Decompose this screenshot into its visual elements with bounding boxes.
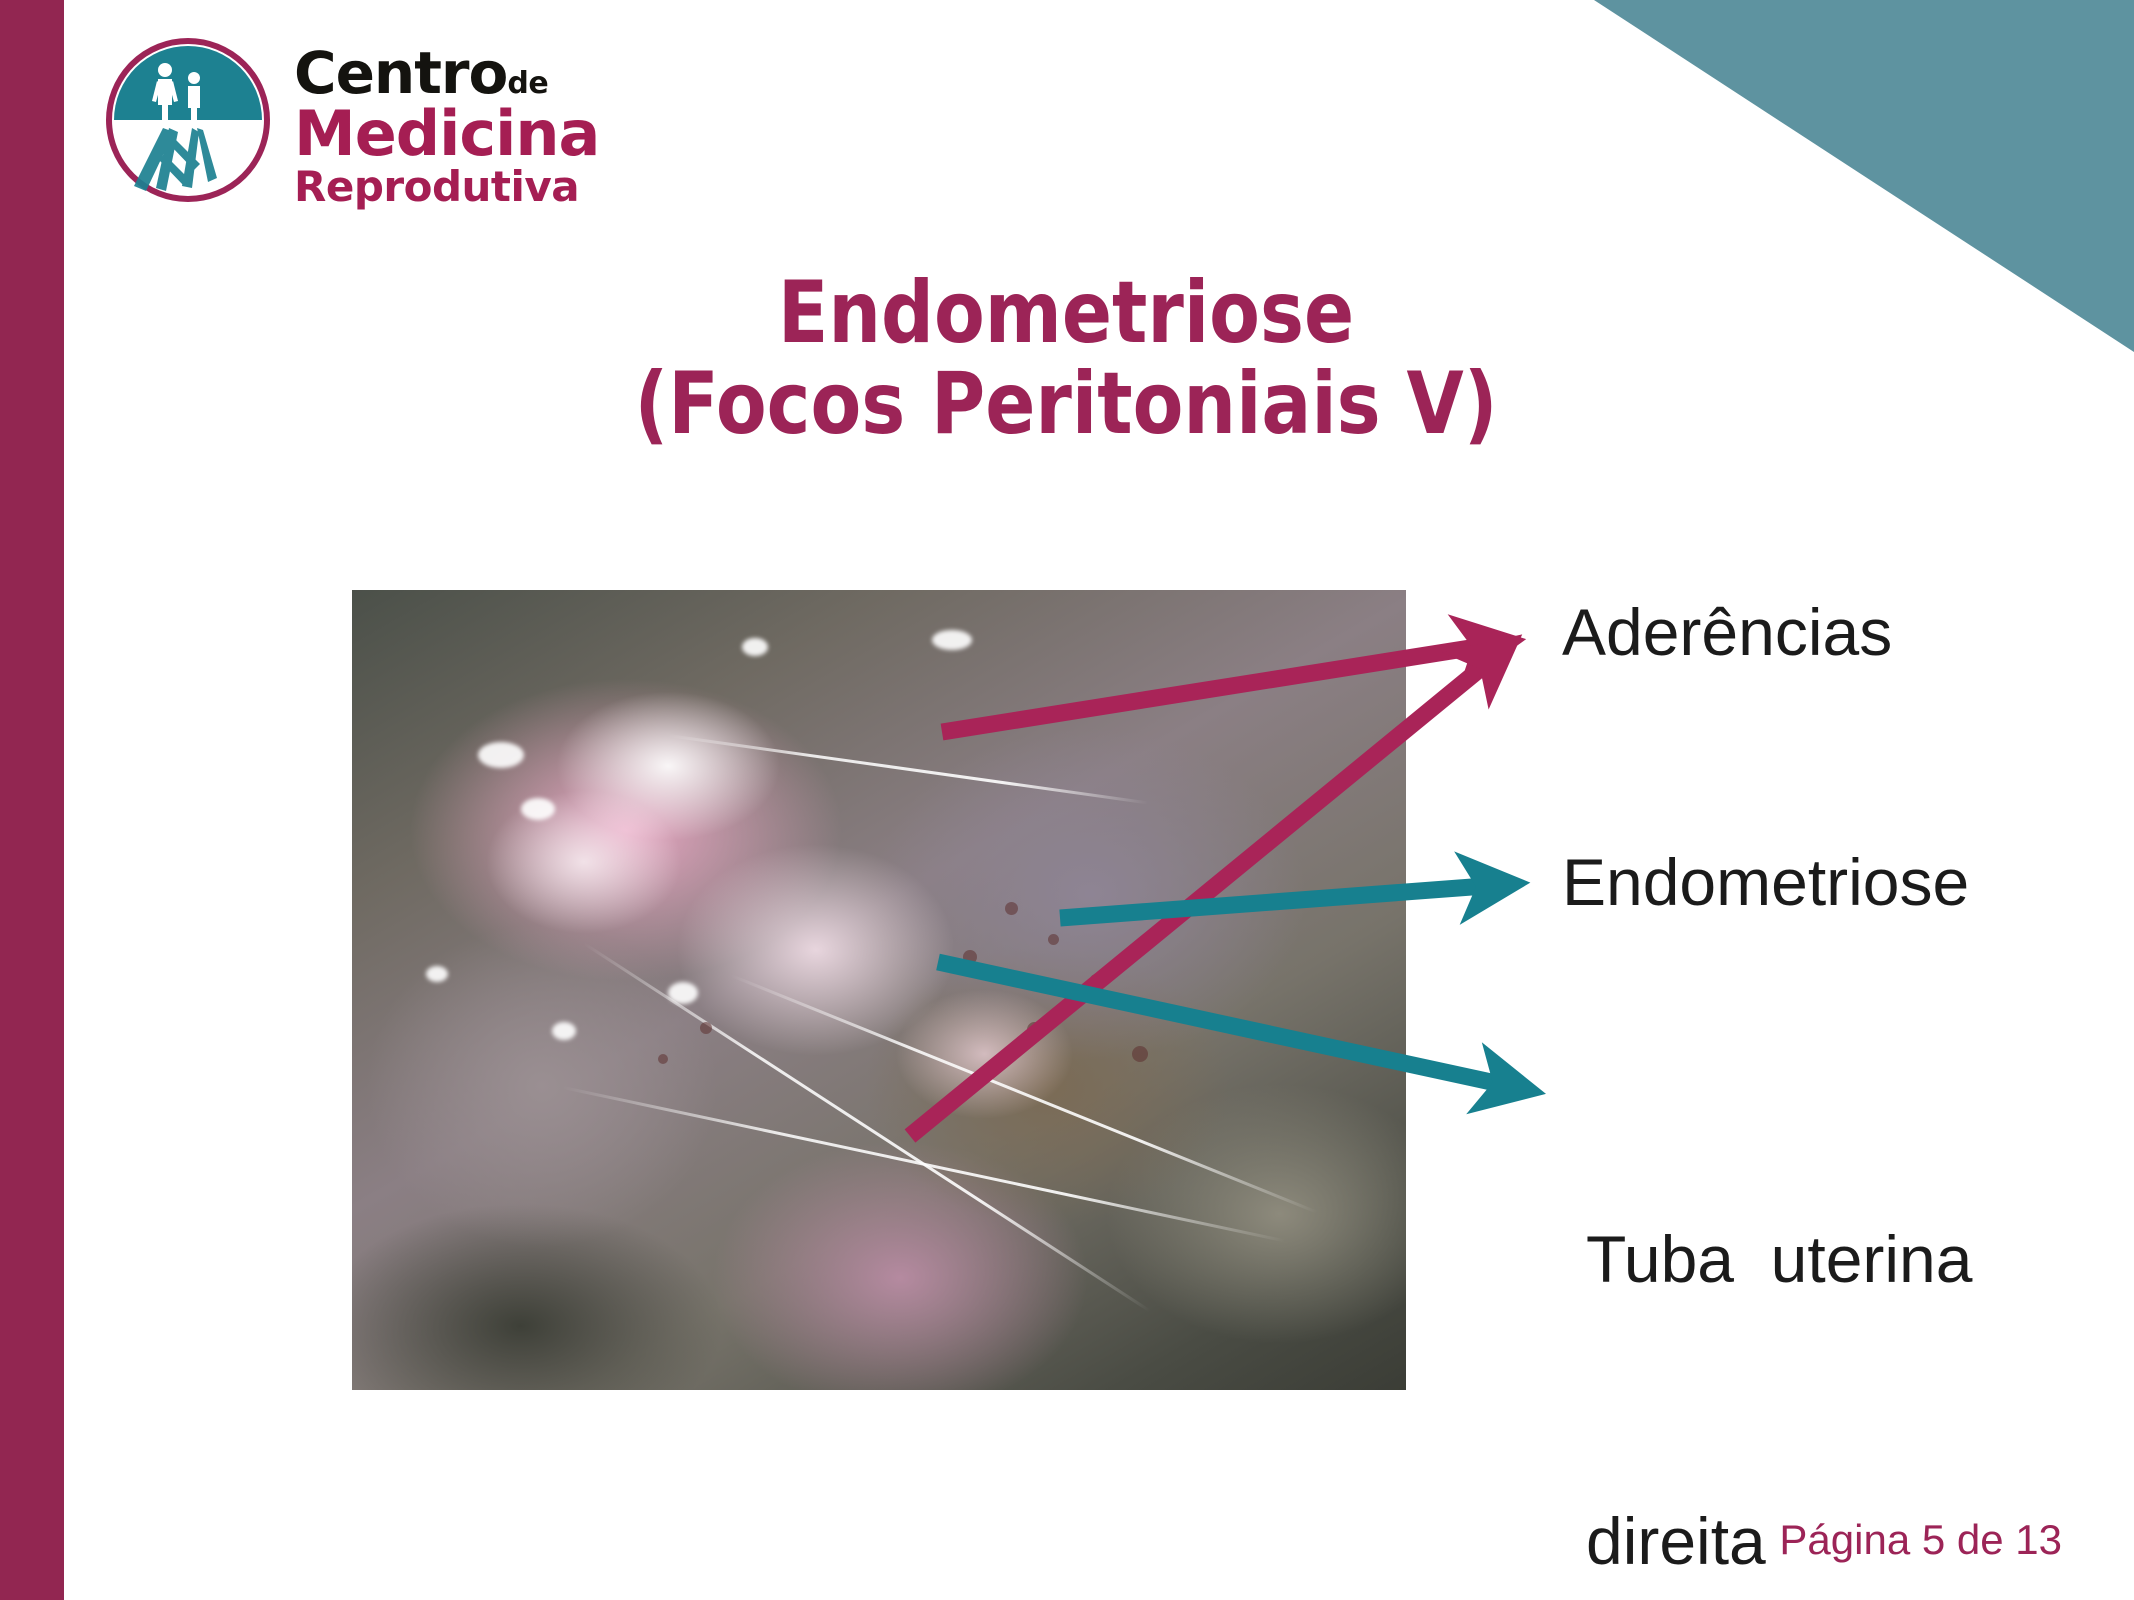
photo-highlight xyxy=(426,966,448,982)
label-tuba-line-1: Tuba uterina xyxy=(1586,1213,1972,1307)
photo-spot xyxy=(1132,1046,1148,1062)
photo-spot xyxy=(963,950,977,964)
logo-text-medicina: Medicina xyxy=(294,104,674,164)
photo-spot xyxy=(700,1022,712,1034)
photo-streak xyxy=(562,1086,1284,1242)
photo-spot xyxy=(1090,974,1102,986)
logo-text-de: de xyxy=(507,66,548,101)
photo-spot xyxy=(1027,1022,1042,1037)
logo-text-reprodutiva: Reprodutiva xyxy=(294,167,674,207)
photo-streak xyxy=(583,942,1150,1312)
photo-spot xyxy=(658,1054,668,1064)
logo-mark-icon xyxy=(104,36,272,204)
photo-highlight xyxy=(932,630,972,650)
photo-spot xyxy=(1005,902,1018,915)
page-title: Endometriose (Focos Peritoniais V) xyxy=(64,268,2068,450)
logo-wordmark: Centrode Medicina Reprodutiva xyxy=(294,46,674,208)
photo-highlight xyxy=(742,638,768,656)
label-aderencias: Aderências xyxy=(1562,586,1892,680)
logo-line-centro: Centrode xyxy=(294,46,674,102)
slide: Centrode Medicina Reprodutiva Endometrio… xyxy=(0,0,2134,1600)
photo-highlight xyxy=(552,1022,576,1040)
photo-highlight xyxy=(521,798,555,820)
title-line-2: (Focos Peritoniais V) xyxy=(204,359,1927,450)
brand-logo: Centrode Medicina Reprodutiva xyxy=(104,28,664,224)
photo-streak xyxy=(731,974,1318,1214)
page-number-footer: Página 5 de 13 xyxy=(1779,1516,2062,1564)
photo-streak xyxy=(668,734,1149,804)
label-endometriose: Endometriose xyxy=(1562,836,1969,930)
title-line-1: Endometriose xyxy=(204,268,1927,359)
photo-spot xyxy=(1048,934,1059,945)
label-tuba-uterina-direita: Tuba uterina direita xyxy=(1586,1026,1972,1600)
laparoscopy-photo xyxy=(352,590,1406,1390)
photo-highlight xyxy=(668,982,698,1004)
photo-highlight xyxy=(478,742,524,768)
left-accent-bar xyxy=(0,0,64,1600)
